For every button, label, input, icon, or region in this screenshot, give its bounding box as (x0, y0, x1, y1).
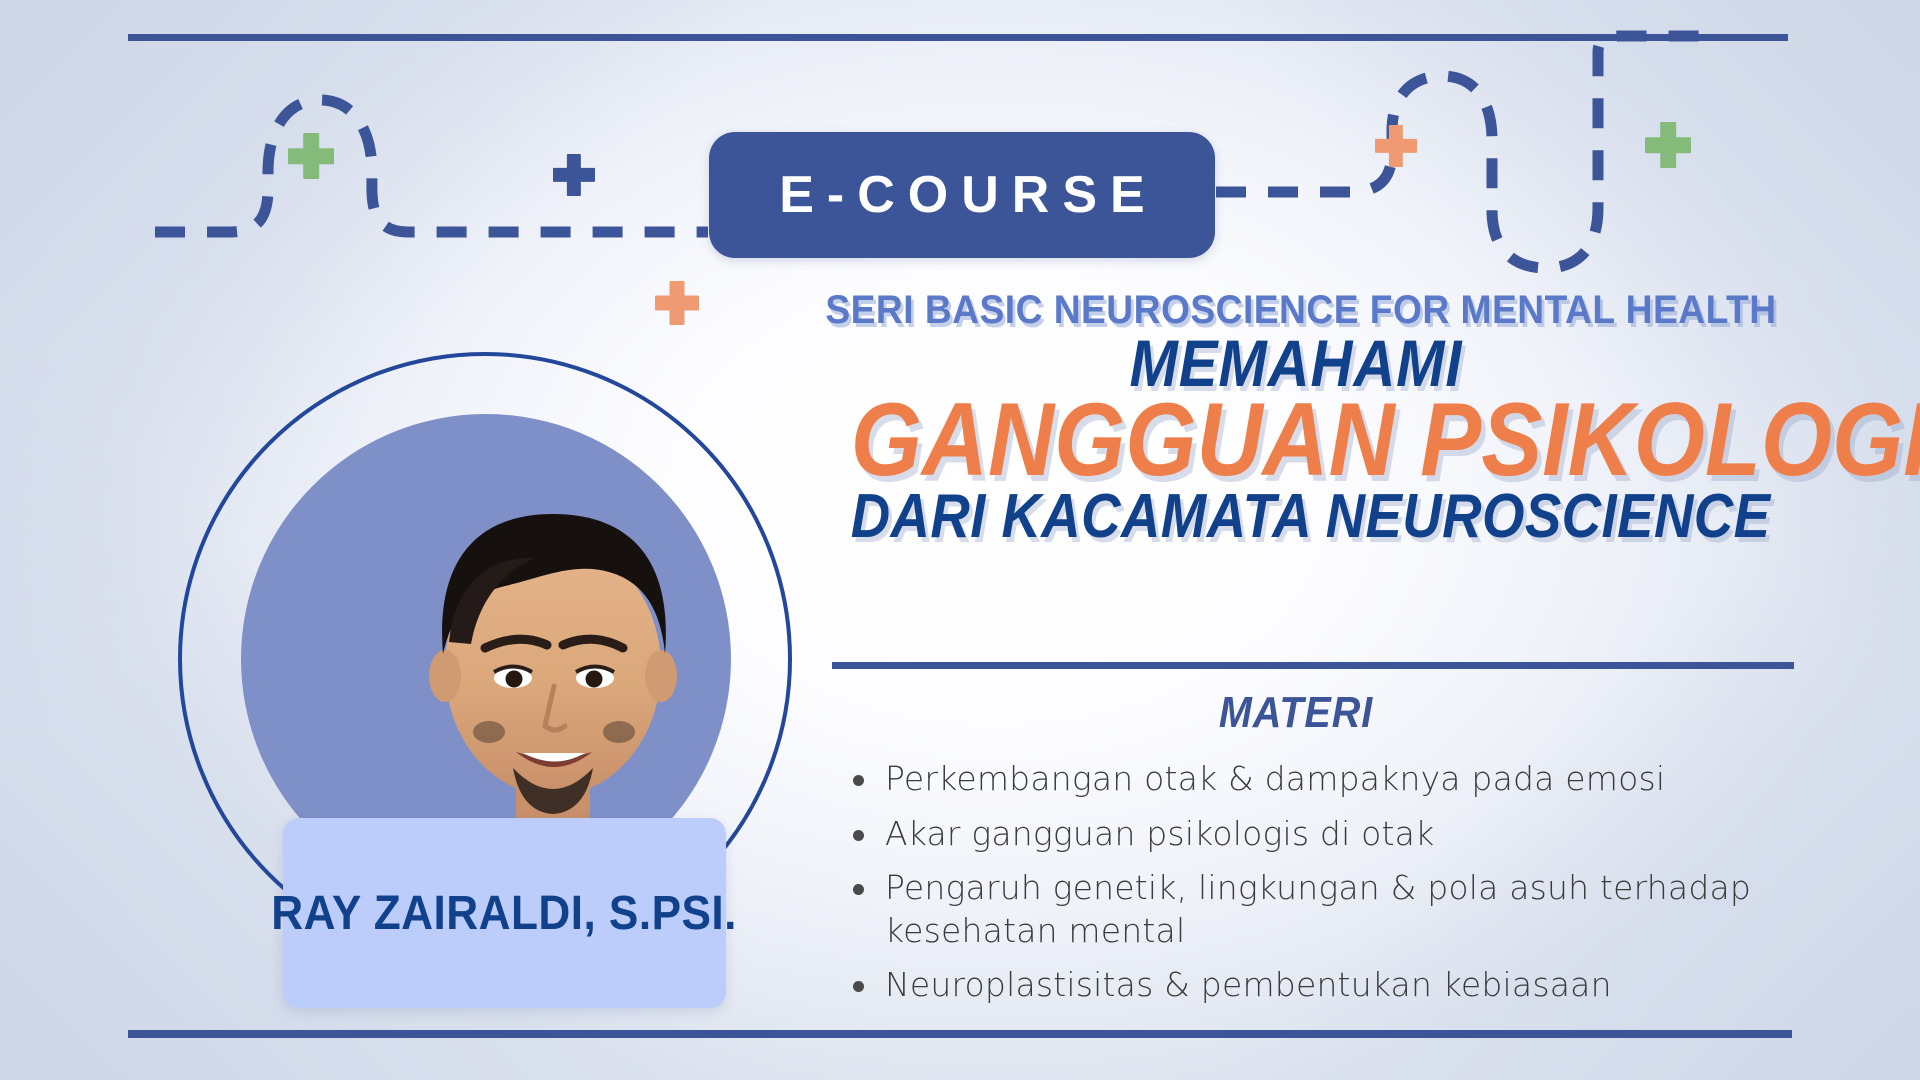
poster-canvas: E-COURSE SERI BASIC NEUROSCIENCE FOR MEN… (0, 0, 1920, 1080)
list-item: Pengaruh genetik, lingkungan & pola asuh… (845, 867, 1805, 952)
list-item: Neuroplastisitas & pembentukan kebiasaan (845, 964, 1805, 1007)
headline-block: MEMAHAMI GANGGUAN PSIKOLOGIS DARI KACAMA… (790, 330, 1802, 548)
plus-icon-green-left (288, 133, 334, 179)
speaker-portrait: RAY ZAIRALDI, S.PSI. (178, 352, 798, 1012)
list-item: Perkembangan otak & dampaknya pada emosi (845, 758, 1805, 801)
plus-icon-orange-subtitle (655, 281, 699, 325)
speaker-name-card: RAY ZAIRALDI, S.PSI. (283, 818, 726, 1008)
headline-line-3: DARI KACAMATA NEUROSCIENCE (851, 486, 1742, 548)
plus-icon-orange-right (1375, 125, 1417, 167)
plus-icon-blue-left (553, 154, 595, 196)
ecourse-badge: E-COURSE (709, 132, 1215, 258)
materi-divider-rule (832, 662, 1794, 669)
headline-line-2: GANGGUAN PSIKOLOGIS (851, 388, 1742, 492)
speaker-name-label: RAY ZAIRALDI, S.PSI. (272, 886, 738, 941)
materi-heading: MATERI (841, 688, 1752, 738)
bottom-border-rule (128, 1030, 1792, 1038)
ecourse-badge-label: E-COURSE (766, 165, 1157, 225)
materi-list: Perkembangan otak & dampaknya pada emosi… (845, 758, 1805, 1019)
plus-icon-green-right (1645, 122, 1691, 168)
list-item: Akar gangguan psikologis di otak (845, 813, 1805, 856)
